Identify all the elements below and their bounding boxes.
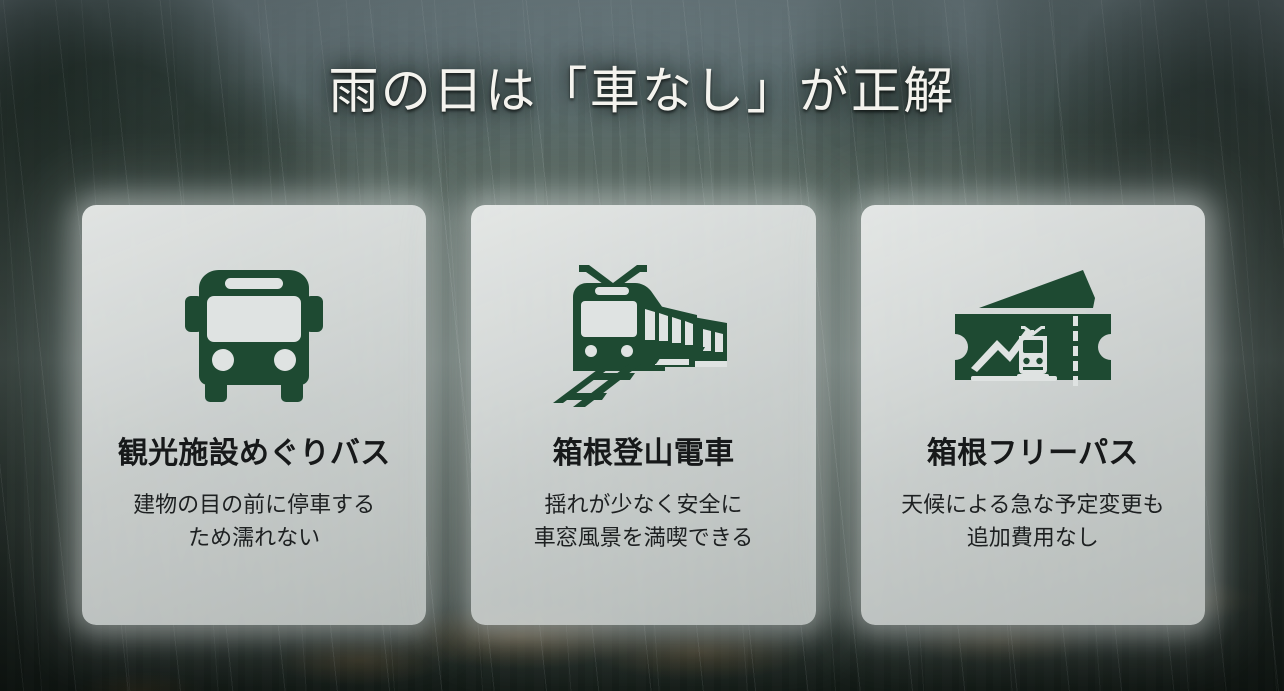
description-line: 建物の目の前に停車する bbox=[133, 488, 375, 521]
description-line: 揺れが少なく安全に bbox=[534, 488, 754, 521]
feature-card-train[interactable]: 箱根登山電車 揺れが少なく安全に 車窓風景を満喫できる bbox=[471, 205, 815, 625]
feature-card-description: 天候による急な予定変更も 追加費用なし bbox=[901, 488, 1164, 555]
feature-card-row: 観光施設めぐりバス 建物の目の前に停車する ため濡れない bbox=[82, 205, 1205, 625]
slide-canvas: 雨の日は「車なし」が正解 bbox=[0, 0, 1284, 691]
ticket-icon bbox=[943, 255, 1123, 415]
description-line: 追加費用なし bbox=[901, 521, 1164, 554]
description-line: 車窓風景を満喫できる bbox=[534, 521, 754, 554]
bus-icon bbox=[179, 255, 329, 415]
description-line: ため濡れない bbox=[133, 521, 375, 554]
feature-card-bus[interactable]: 観光施設めぐりバス 建物の目の前に停車する ため濡れない bbox=[82, 205, 426, 625]
feature-card-title: 箱根登山電車 bbox=[553, 437, 735, 472]
feature-card-ticket[interactable]: 箱根フリーパス 天候による急な予定変更も 追加費用なし bbox=[861, 205, 1205, 625]
feature-card-description: 揺れが少なく安全に 車窓風景を満喫できる bbox=[534, 488, 754, 555]
feature-card-title: 箱根フリーパス bbox=[927, 437, 1139, 472]
feature-card-description: 建物の目の前に停車する ため濡れない bbox=[133, 488, 375, 555]
description-line: 天候による急な予定変更も bbox=[901, 488, 1164, 521]
train-icon bbox=[543, 255, 743, 415]
page-title: 雨の日は「車なし」が正解 bbox=[0, 66, 1284, 116]
feature-card-title: 観光施設めぐりバス bbox=[118, 437, 391, 472]
